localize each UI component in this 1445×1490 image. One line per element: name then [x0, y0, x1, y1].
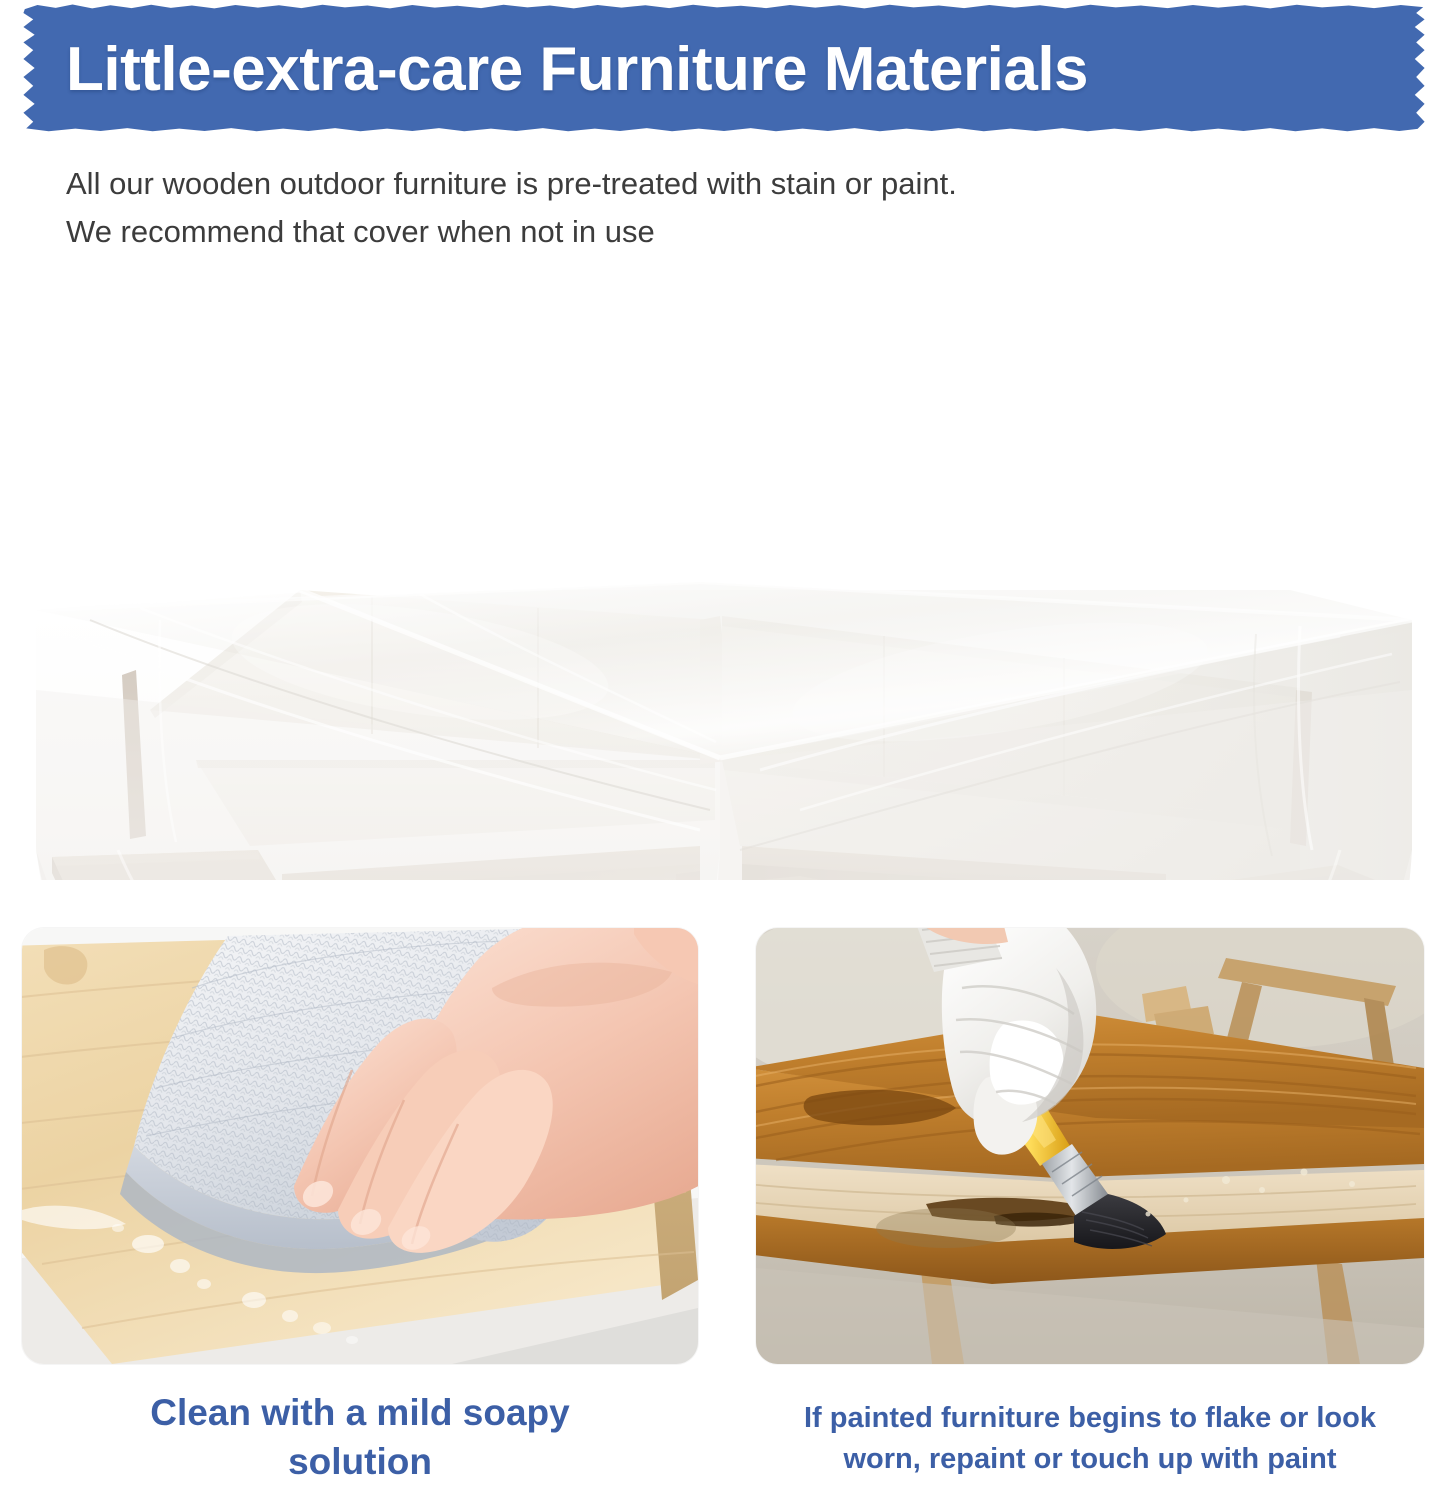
page-title: Little-extra-care Furniture Materials [66, 24, 1406, 114]
brush-shadow [876, 1208, 1016, 1248]
caption-cleaning: Clean with a mild soapy solution [22, 1388, 698, 1486]
caption-repainting: If painted furniture begins to flake or … [756, 1398, 1424, 1480]
hero-illustration [0, 290, 1445, 880]
caption-repainting-line-1: If painted furniture begins to flake or … [756, 1398, 1424, 1439]
repainting-illustration [756, 928, 1424, 1364]
intro-line-1: All our wooden outdoor furniture is pre-… [66, 160, 1316, 208]
caption-cleaning-line-1: Clean with a mild soapy [22, 1388, 698, 1437]
caption-cleaning-line-2: solution [22, 1437, 698, 1486]
intro-line-2: We recommend that cover when not in use [66, 208, 1316, 256]
card-photo-cleaning [22, 928, 698, 1364]
intro-paragraph: All our wooden outdoor furniture is pre-… [66, 160, 1316, 256]
card-photo-repainting [756, 928, 1424, 1364]
caption-repainting-line-2: worn, repaint or touch up with paint [756, 1439, 1424, 1480]
header-banner: Little-extra-care Furniture Materials [0, 0, 1445, 136]
hero-image-covered-furniture [0, 290, 1445, 880]
cleaning-illustration [22, 928, 698, 1364]
protective-cover [36, 582, 1412, 880]
